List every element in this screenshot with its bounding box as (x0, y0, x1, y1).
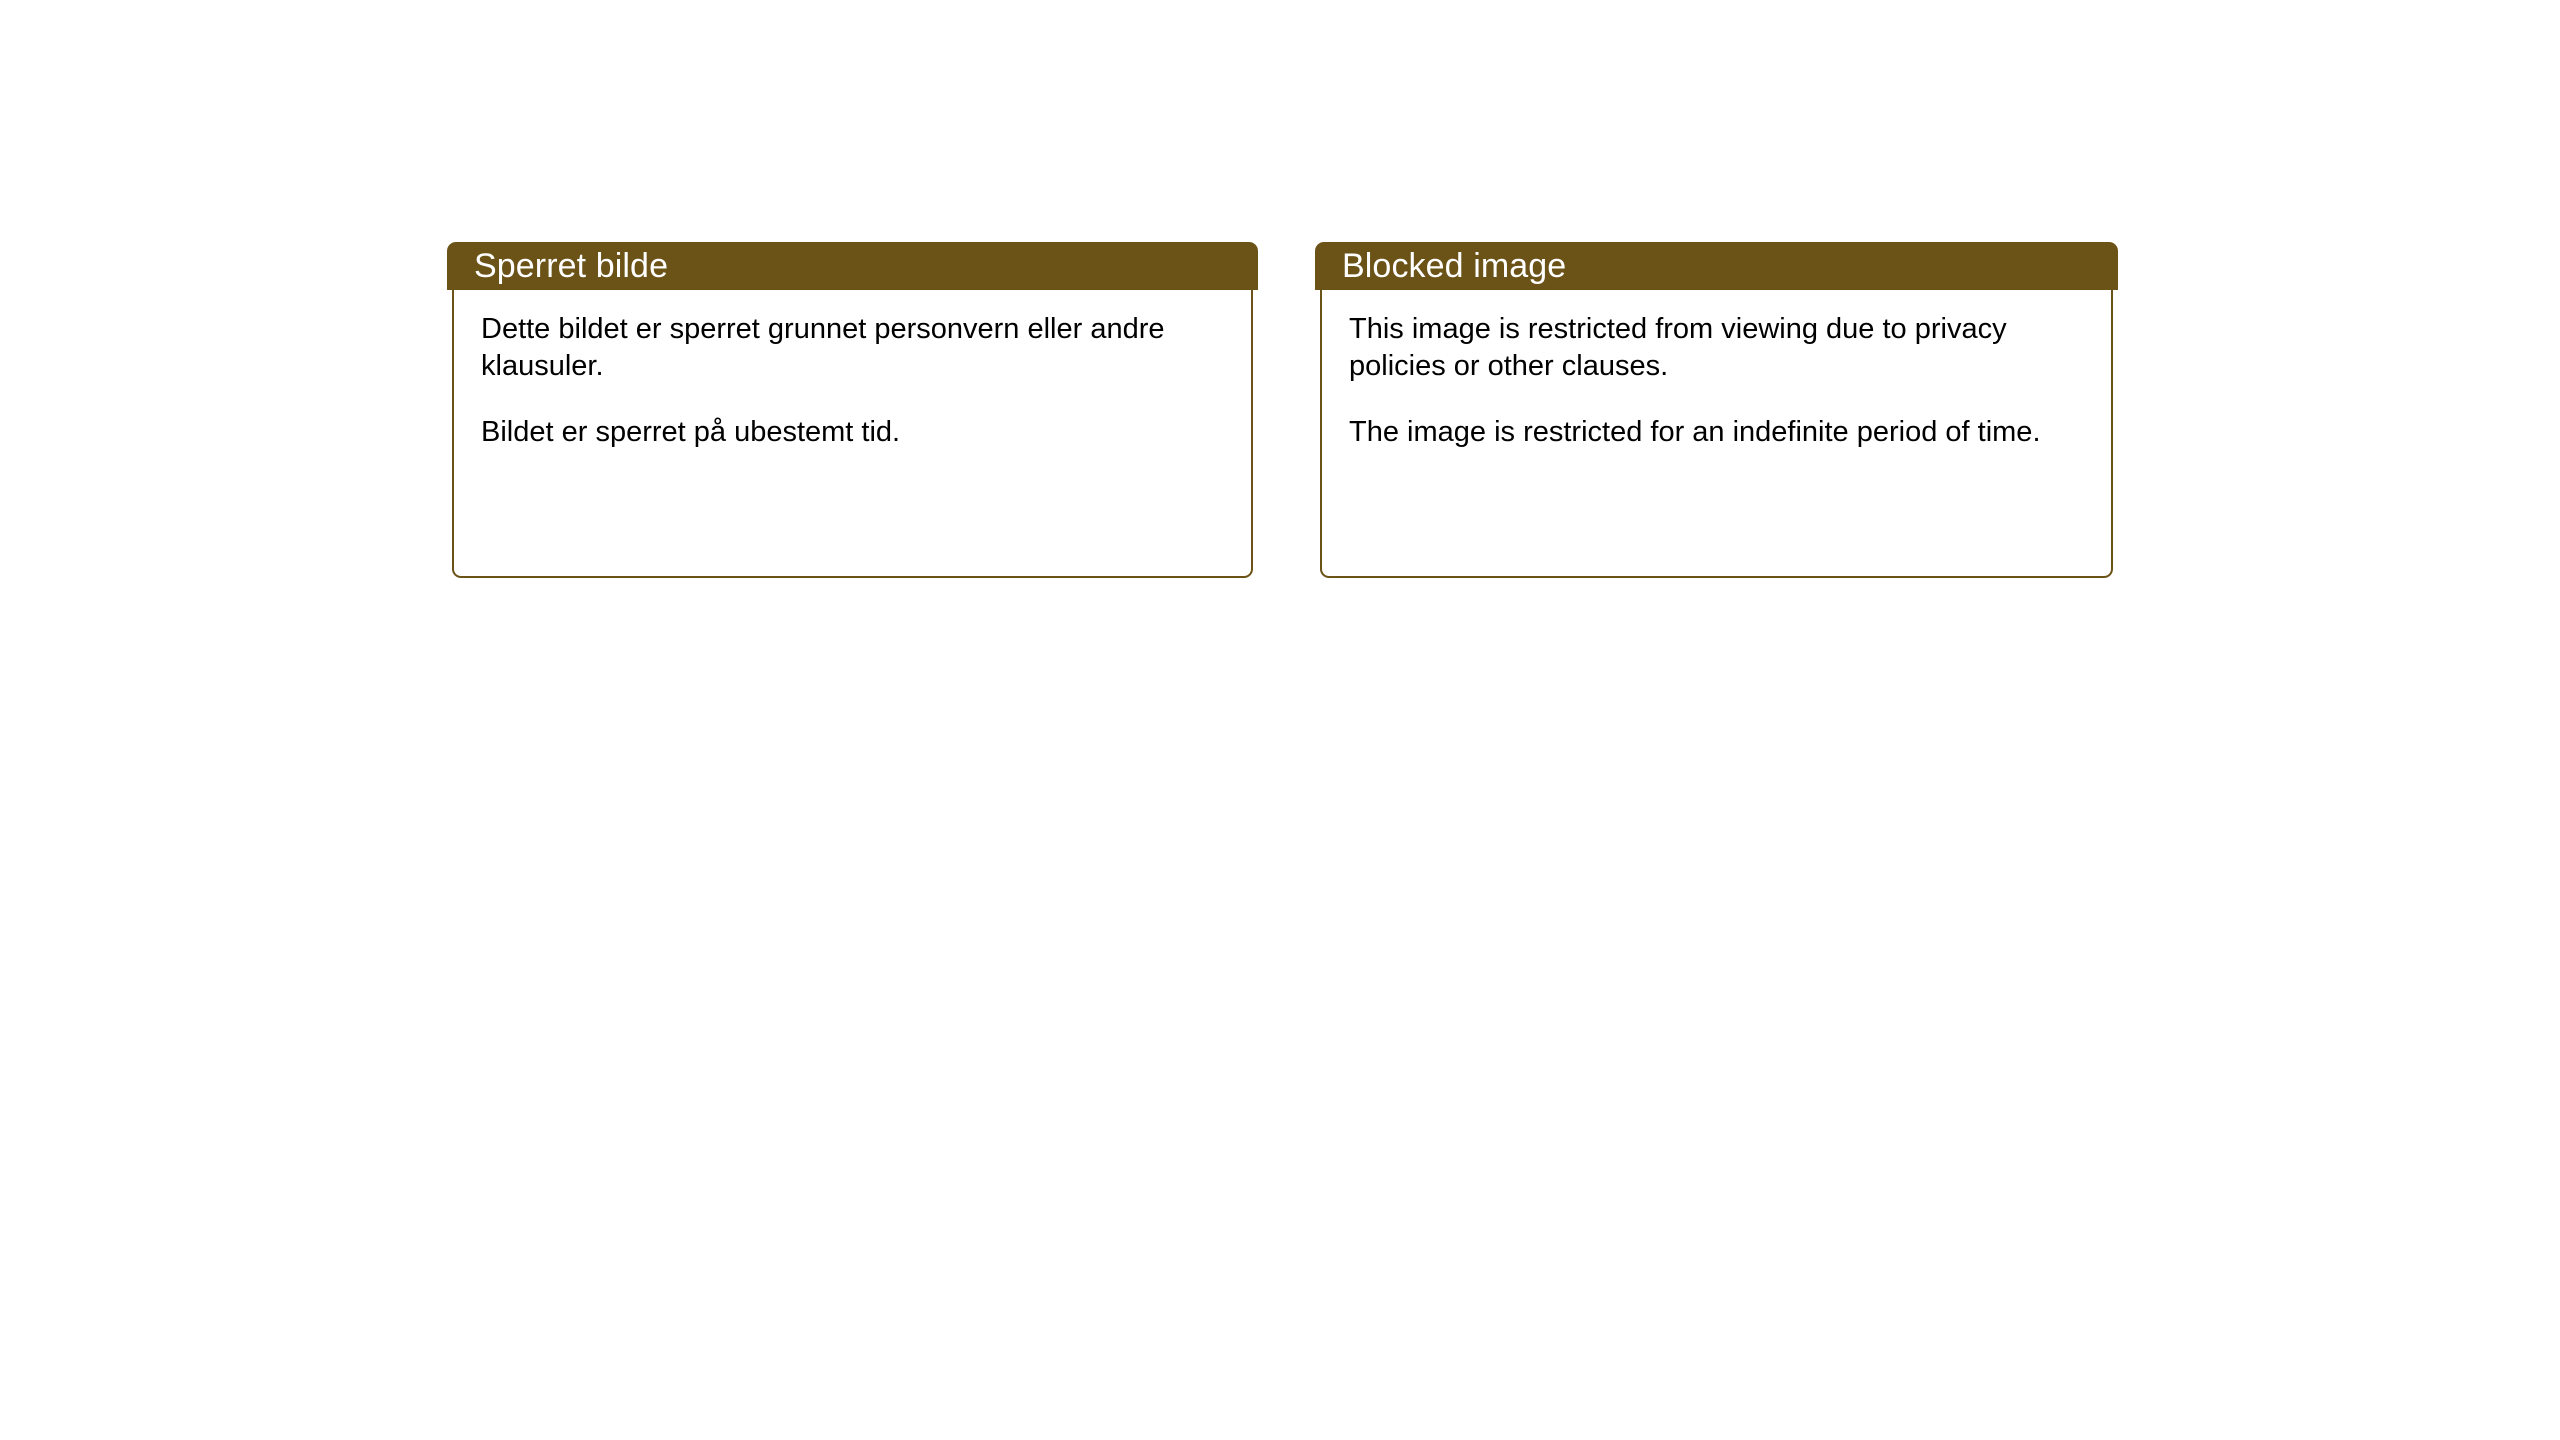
card-header-no: Sperret bilde (447, 242, 1258, 290)
card-title-en: Blocked image (1315, 249, 1566, 283)
card-paragraph-secondary-no: Bildet er sperret på ubestemt tid. (481, 414, 1225, 451)
card-header-en: Blocked image (1315, 242, 2118, 290)
page-canvas: Sperret bilde Dette bildet er sperret gr… (0, 0, 2560, 1440)
card-paragraph-primary-no: Dette bildet er sperret grunnet personve… (481, 311, 1225, 385)
card-paragraph-primary-en: This image is restricted from viewing du… (1349, 311, 2085, 385)
card-body-en: This image is restricted from viewing du… (1320, 290, 2113, 578)
card-paragraph-secondary-en: The image is restricted for an indefinit… (1349, 414, 2085, 451)
card-body-no: Dette bildet er sperret grunnet personve… (452, 290, 1253, 578)
blocked-image-notice-card-en: Blocked image This image is restricted f… (1320, 242, 2113, 578)
card-title-no: Sperret bilde (447, 249, 668, 283)
blocked-image-notice-card-no: Sperret bilde Dette bildet er sperret gr… (452, 242, 1253, 578)
